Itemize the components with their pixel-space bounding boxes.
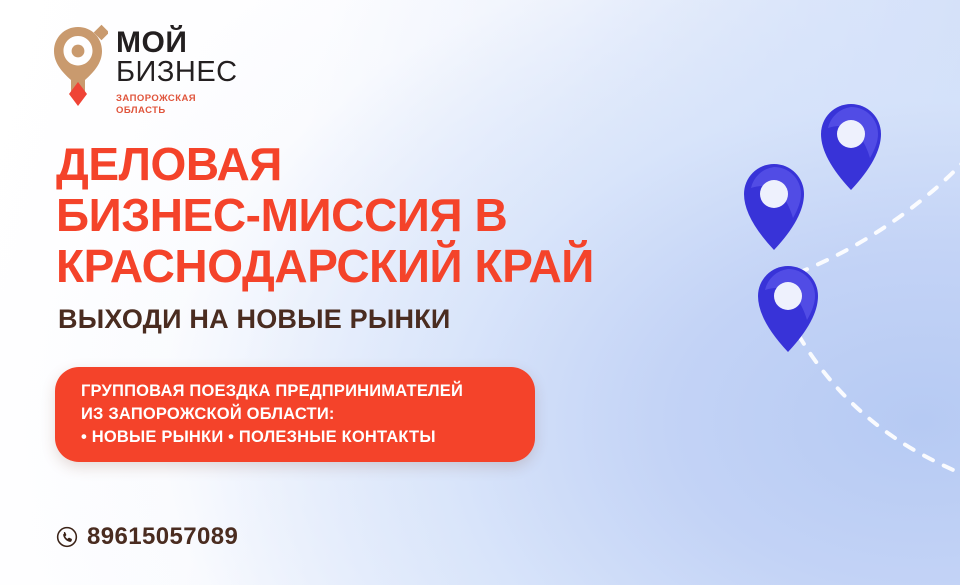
page-title: ДЕЛОВАЯ БИЗНЕС-МИССИЯ В КРАСНОДАРСКИЙ КР…	[56, 139, 594, 292]
location-pin-logo-icon	[52, 22, 108, 110]
headline-line-2: БИЗНЕС-МИССИЯ В	[56, 190, 594, 241]
brand-region-line-b: ОБЛАСТЬ	[116, 105, 238, 117]
phone-circle-icon	[56, 526, 78, 548]
brand-line-2: БИЗНЕС	[116, 58, 238, 88]
globe-continents	[577, 87, 914, 488]
phone-number: 89615057089	[87, 525, 238, 549]
brand-line-1: МОЙ	[116, 28, 238, 57]
contact-phone[interactable]: 89615057089	[56, 525, 238, 549]
globe-latitudes	[580, 150, 960, 422]
info-line-2: ИЗ ЗАПОРОЖСКОЙ ОБЛАСТИ:	[81, 403, 535, 426]
globe-route-dashed	[773, 8, 960, 500]
subtitle: ВЫХОДИ НА НОВЫЕ РЫНКИ	[58, 306, 451, 333]
brand-wordmark: МОЙ БИЗНЕС ЗАПОРОЖСКАЯ ОБЛАСТЬ	[116, 22, 238, 116]
map-pin-1	[821, 104, 881, 190]
globe-sphere	[581, 59, 960, 459]
info-line-1: ГРУППОВАЯ ПОЕЗДКА ПРЕДПРИНИМАТЕЛЕЙ	[81, 380, 535, 403]
info-callout-box: ГРУППОВАЯ ПОЕЗДКА ПРЕДПРИНИМАТЕЛЕЙ ИЗ ЗА…	[55, 367, 535, 462]
brand-logo[interactable]: МОЙ БИЗНЕС ЗАПОРОЖСКАЯ ОБЛАСТЬ	[52, 22, 238, 116]
globe-meridians	[581, 59, 960, 459]
map-pin-3	[758, 266, 818, 352]
info-line-3: • НОВЫЕ РЫНКИ • ПОЛЕЗНЫЕ КОНТАКТЫ	[81, 426, 535, 449]
brand-region-line-a: ЗАПОРОЖСКАЯ	[116, 93, 238, 105]
globe-pins	[744, 104, 881, 352]
headline-line-1: ДЕЛОВАЯ	[56, 139, 594, 190]
map-pin-2	[744, 164, 804, 250]
promo-banner: МОЙ БИЗНЕС ЗАПОРОЖСКАЯ ОБЛАСТЬ ДЕЛОВАЯ Б…	[0, 0, 960, 585]
brand-region: ЗАПОРОЖСКАЯ ОБЛАСТЬ	[116, 93, 238, 116]
headline-line-3: КРАСНОДАРСКИЙ КРАЙ	[56, 241, 594, 292]
world-globe-illustration	[566, 44, 960, 474]
